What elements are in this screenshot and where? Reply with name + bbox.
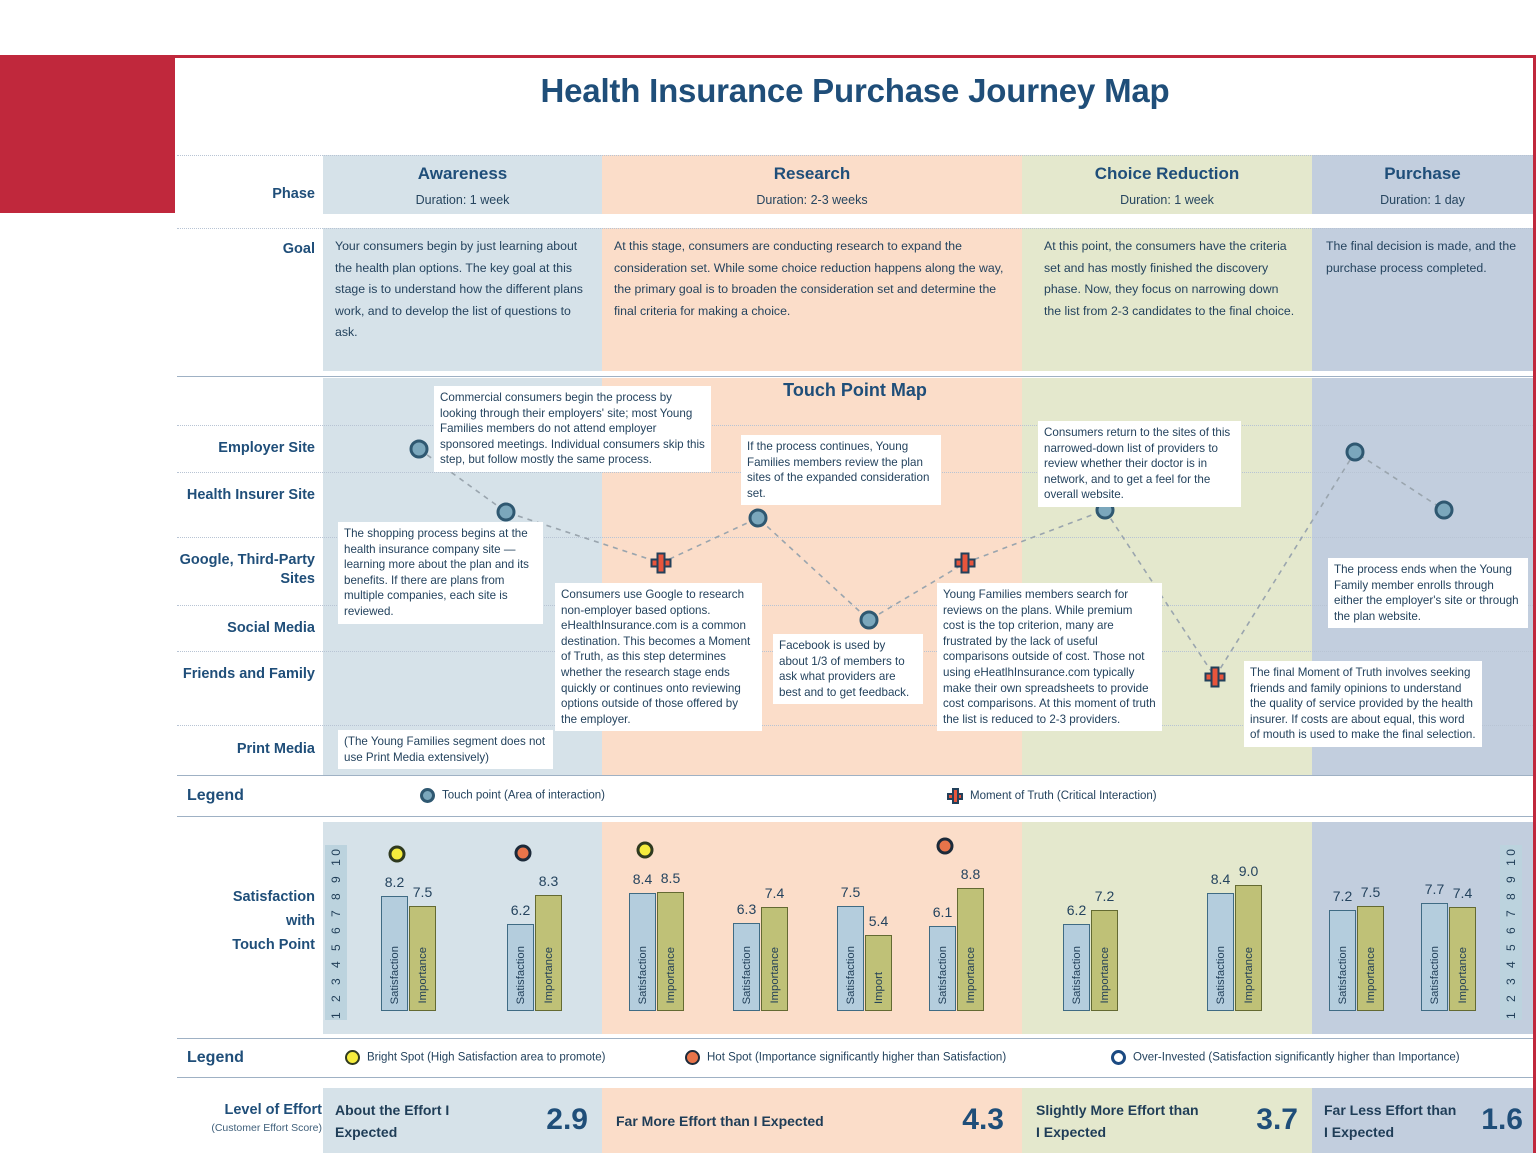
bar-series-label: Satisfaction: [1337, 946, 1349, 1004]
bar-value-label: 5.4: [869, 913, 888, 929]
channel-label-health-insurer-site: Health Insurer Site: [177, 486, 315, 505]
annotation-employer-site-awareness: Commercial consumers begin the process b…: [434, 386, 711, 472]
bar-sat-9: Satisfaction: [1329, 910, 1356, 1011]
moment-of-truth-icon: [947, 788, 963, 804]
channel-label-social-media: Social Media: [177, 619, 315, 638]
bright-spot-icon: [345, 1050, 360, 1065]
legend-title: Legend: [187, 787, 244, 805]
bar-series-label: Satisfaction: [1071, 946, 1083, 1004]
phase-name: Choice Reduction: [1022, 164, 1312, 184]
channel-divider-1: [177, 425, 1533, 426]
row-label-phase: Phase: [177, 185, 315, 204]
goal-text-choice-reduction: At this point, the consumers have the cr…: [1044, 236, 1298, 322]
bar-series-label: Satisfaction: [637, 946, 649, 1004]
bar-series-label: Importance: [769, 947, 781, 1004]
loe-text: Far Less Effort than I Expected: [1324, 1099, 1459, 1143]
level-of-effort-subtitle: (Customer Effort Score): [177, 1122, 322, 1134]
touch-point-node-social-research[interactable]: [860, 611, 879, 630]
level-of-effort-choice-reduction: Slightly More Effort than I Expected 3.7: [1022, 1088, 1312, 1153]
annotation-google-choice-reduction: Young Families members search for review…: [937, 583, 1162, 731]
hot-spot-icon-2: [514, 844, 531, 861]
phase-header-research: Research Duration: 2-3 weeks: [602, 164, 1022, 207]
bar-sat-8: Satisfaction: [1207, 893, 1234, 1011]
bar-sat-2: Satisfaction: [507, 924, 534, 1011]
bar-series-label: Importance: [665, 947, 677, 1004]
moment-of-truth-google-choice[interactable]: [955, 553, 976, 574]
loe-score: 2.9: [546, 1103, 588, 1137]
legend-item-over-invested: Over-Invested (Satisfaction significantl…: [1111, 1050, 1460, 1065]
bar-series-label: Importance: [965, 947, 977, 1004]
goal-text-awareness: Your consumers begin by just learning ab…: [335, 236, 590, 344]
touch-point-node-insurer-purchase[interactable]: [1435, 501, 1454, 520]
touch-point-node-employer-purchase[interactable]: [1346, 443, 1365, 462]
channel-label-print-media: Print Media: [177, 740, 315, 759]
legend-item-touch-point: Touch point (Area of interaction): [420, 788, 605, 803]
bar-imp-4: Importance: [761, 907, 788, 1011]
bar-value-label: 8.4: [633, 871, 652, 887]
legend-title-2: Legend: [187, 1049, 244, 1067]
loe-score: 4.3: [962, 1103, 1004, 1137]
annotation-print-media: (The Young Families segment does not use…: [338, 730, 553, 769]
bar-value-label: 7.5: [413, 884, 432, 900]
bar-series-label: Satisfaction: [515, 946, 527, 1004]
level-of-effort-label: Level of Effort (Customer Effort Score): [177, 1102, 322, 1134]
loe-text: About the Effort I Expected: [335, 1099, 485, 1143]
legend-label: Bright Spot (High Satisfaction area to p…: [367, 1052, 605, 1064]
bar-series-label: Satisfaction: [389, 946, 401, 1004]
row-divider-tpm-top: [177, 376, 1533, 377]
level-of-effort-title: Level of Effort: [177, 1102, 322, 1118]
legend-label: Over-Invested (Satisfaction significantl…: [1133, 1052, 1460, 1064]
loe-text: Far More Effort than I Expected: [616, 1110, 906, 1132]
bar-value-label: 8.3: [539, 873, 558, 889]
bar-series-label: Importance: [417, 947, 429, 1004]
bar-series-label: Satisfaction: [937, 946, 949, 1004]
annotation-social-media-research: Facebook is used by about 1/3 of members…: [773, 634, 923, 704]
bar-value-label: 6.2: [1067, 902, 1086, 918]
level-of-effort-row: Level of Effort (Customer Effort Score) …: [177, 1088, 1533, 1153]
annotation-insurer-site-research: If the process continues, Young Families…: [741, 435, 941, 505]
phase-header-purchase: Purchase Duration: 1 day: [1312, 164, 1533, 207]
bar-imp-7: Importance: [1091, 910, 1118, 1011]
row-divider-phase-top: [177, 155, 1533, 156]
phase-duration: Duration: 1 day: [1312, 193, 1533, 207]
bar-value-label: 6.3: [737, 901, 756, 917]
bar-series-label: Satisfaction: [845, 946, 857, 1004]
touch-point-node-employer-awareness[interactable]: [410, 440, 429, 459]
level-of-effort-purchase: Far Less Effort than I Expected 1.6: [1312, 1088, 1533, 1153]
bar-sat-3: Satisfaction: [629, 893, 656, 1011]
bar-series-label: Satisfaction: [1429, 946, 1441, 1004]
phase-duration: Duration: 2-3 weeks: [602, 193, 1022, 207]
annotation-friends-family-purchase: The final Moment of Truth involves seeki…: [1244, 661, 1482, 747]
bar-value-label: 7.5: [1361, 884, 1380, 900]
bar-value-label: 8.2: [385, 874, 404, 890]
row-divider-goal-top: [177, 228, 1533, 229]
legend-label: Moment of Truth (Critical Interaction): [970, 790, 1157, 802]
bar-value-label: 8.8: [961, 866, 980, 882]
channel-label-friends-and-family: Friends and Family: [177, 665, 315, 684]
level-of-effort-research: Far More Effort than I Expected 4.3: [602, 1088, 1022, 1153]
annotation-google-research: Consumers use Google to research non-emp…: [555, 583, 762, 731]
goal-text-purchase: The final decision is made, and the purc…: [1326, 236, 1521, 279]
phase-name: Purchase: [1312, 164, 1533, 184]
page-title: Health Insurance Purchase Journey Map: [177, 62, 1533, 120]
bar-value-label: 7.5: [841, 884, 860, 900]
bar-imp-10: Importance: [1449, 907, 1476, 1011]
loe-score: 1.6: [1481, 1103, 1523, 1137]
bar-sat-4: Satisfaction: [733, 923, 760, 1011]
hot-spot-icon: [685, 1050, 700, 1065]
left-accent-block: [0, 58, 175, 213]
row-label-goal: Goal: [177, 240, 315, 259]
phase-name: Research: [602, 164, 1022, 184]
bar-imp-2: Importance: [535, 895, 562, 1011]
phase-duration: Duration: 1 week: [323, 193, 602, 207]
bar-value-label: 9.0: [1239, 863, 1258, 879]
annotation-insurer-choice: Consumers return to the sites of this na…: [1038, 421, 1241, 507]
bar-series-label: Importance: [543, 947, 555, 1004]
level-of-effort-awareness: About the Effort I Expected 2.9: [323, 1088, 602, 1153]
channel-label-employer-site: Employer Site: [177, 439, 315, 458]
bar-imp-8: Importance: [1235, 885, 1262, 1011]
bar-value-label: 6.1: [933, 904, 952, 920]
bar-imp-6: Importance: [957, 888, 984, 1011]
bar-sat-10: Satisfaction: [1421, 903, 1448, 1011]
bar-imp-9: Importance: [1357, 906, 1384, 1011]
bar-sat-7: Satisfaction: [1063, 924, 1090, 1011]
goal-text-research: At this stage, consumers are conducting …: [614, 236, 1012, 322]
bar-value-label: 6.2: [511, 902, 530, 918]
satisfaction-chart: Satisfaction8.2Importance7.5Satisfaction…: [177, 822, 1533, 1034]
bar-series-label: Importance: [1099, 947, 1111, 1004]
bar-series-label: Importance: [1243, 947, 1255, 1004]
annotation-purchase-enrollment: The process ends when the Young Family m…: [1328, 558, 1528, 628]
bar-imp-1: Importance: [409, 906, 436, 1011]
bar-sat-5: Satisfaction: [837, 906, 864, 1011]
legend-label: Hot Spot (Importance significantly highe…: [707, 1052, 1006, 1064]
touch-point-icon: [420, 788, 435, 803]
bar-value-label: 7.4: [765, 885, 784, 901]
bar-series-label: Satisfaction: [1215, 946, 1227, 1004]
legend-label: Touch point (Area of interaction): [442, 790, 605, 802]
touch-point-legend-bar: Legend Touch point (Area of interaction)…: [177, 775, 1533, 817]
moment-of-truth-friends-family-choice[interactable]: [1205, 667, 1226, 688]
bright-spot-icon-3: [636, 842, 653, 859]
phase-header-awareness: Awareness Duration: 1 week: [323, 164, 602, 207]
channel-label-google-third-party: Google, Third-Party Sites: [177, 551, 315, 589]
bar-series-label: Importance: [1365, 947, 1377, 1004]
bar-sat-6: Satisfaction: [929, 926, 956, 1011]
moment-of-truth-google-research[interactable]: [651, 553, 672, 574]
bar-value-label: 7.2: [1333, 888, 1352, 904]
phase-duration: Duration: 1 week: [1022, 193, 1312, 207]
annotation-insurer-site-awareness: The shopping process begins at the healt…: [338, 522, 543, 624]
bar-imp-3: Importance: [657, 892, 684, 1011]
bar-value-label: 7.2: [1095, 888, 1114, 904]
loe-text: Slightly More Effort than I Expected: [1036, 1099, 1206, 1143]
over-invested-icon: [1111, 1050, 1126, 1065]
bar-sat-1: Satisfaction: [381, 896, 408, 1011]
bar-value-label: 8.5: [661, 870, 680, 886]
legend-item-hot-spot: Hot Spot (Importance significantly highe…: [685, 1050, 1006, 1065]
bright-spot-icon-1: [388, 846, 405, 863]
bar-value-label: 7.4: [1453, 885, 1472, 901]
touch-point-map-heading: Touch Point Map: [177, 380, 1533, 401]
legend-item-bright-spot: Bright Spot (High Satisfaction area to p…: [345, 1050, 605, 1065]
touch-point-node-insurer-research[interactable]: [749, 509, 768, 528]
bar-value-label: 8.4: [1211, 871, 1230, 887]
bar-series-label: Import: [873, 972, 885, 1004]
touch-point-node-insurer-awareness[interactable]: [497, 503, 516, 522]
phase-name: Awareness: [323, 164, 602, 184]
bar-imp-5: Import: [865, 935, 892, 1011]
legend-item-moment-of-truth: Moment of Truth (Critical Interaction): [947, 788, 1157, 804]
loe-score: 3.7: [1256, 1103, 1298, 1137]
bar-series-label: Importance: [1457, 947, 1469, 1004]
chart-legend-bar: Legend Bright Spot (High Satisfaction ar…: [177, 1038, 1533, 1078]
bar-value-label: 7.7: [1425, 881, 1444, 897]
phase-header-choice-reduction: Choice Reduction Duration: 1 week: [1022, 164, 1312, 207]
bar-series-label: Satisfaction: [741, 946, 753, 1004]
hot-spot-icon-6: [936, 837, 953, 854]
